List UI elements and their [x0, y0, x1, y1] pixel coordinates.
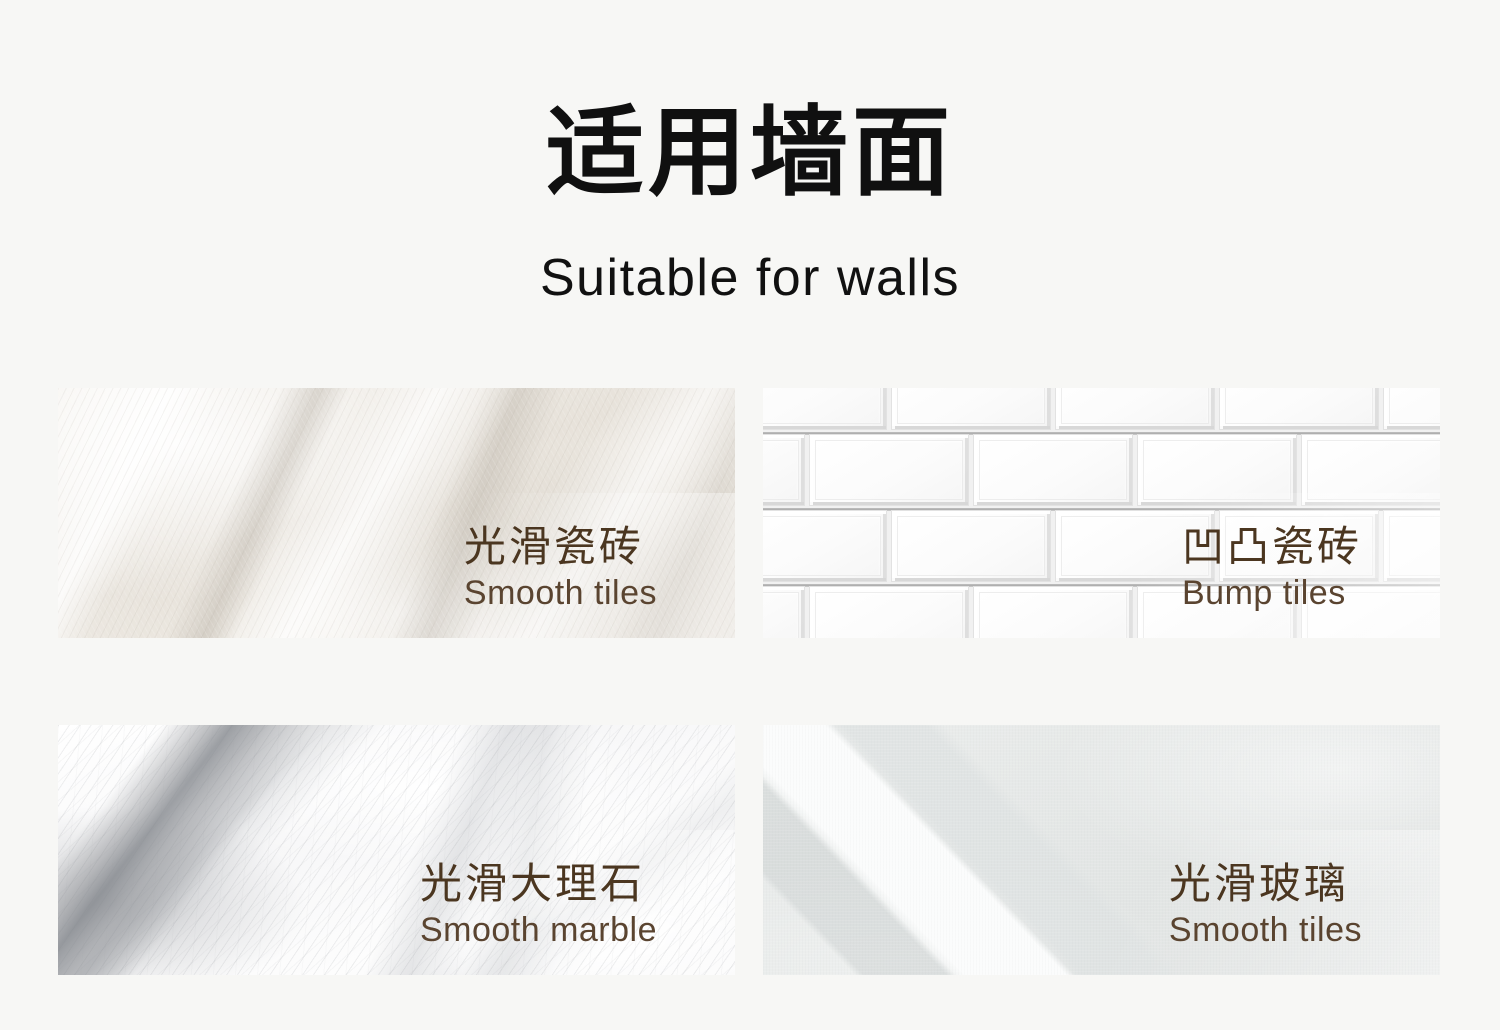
card-label-cn: 光滑玻璃 [1169, 860, 1362, 907]
page-title: 适用墙面 [0, 0, 1500, 202]
card-label-en: Smooth tiles [1169, 911, 1362, 949]
card-label-en: Bump tiles [1182, 574, 1362, 612]
page-header: 适用墙面 Suitable for walls [0, 0, 1500, 304]
surface-card-bump-tiles[interactable]: 凹凸瓷砖 Bump tiles [763, 388, 1440, 638]
card-label: 光滑大理石 Smooth marble [420, 860, 657, 949]
surface-card-smooth-glass[interactable]: 光滑玻璃 Smooth tiles [763, 725, 1440, 975]
card-label-en: Smooth tiles [464, 574, 657, 612]
page-subtitle: Suitable for walls [0, 202, 1500, 304]
surface-card-grid: 光滑瓷砖 Smooth tiles 凹凸瓷砖 Bump tiles [58, 388, 1440, 975]
card-label-cn: 光滑瓷砖 [464, 523, 657, 570]
card-label-cn: 凹凸瓷砖 [1182, 523, 1362, 570]
card-label-en: Smooth marble [420, 911, 657, 949]
card-label: 凹凸瓷砖 Bump tiles [1182, 523, 1362, 612]
card-label: 光滑瓷砖 Smooth tiles [464, 523, 657, 612]
card-label-cn: 光滑大理石 [420, 860, 657, 907]
surface-card-smooth-marble[interactable]: 光滑大理石 Smooth marble [58, 725, 735, 975]
card-label: 光滑玻璃 Smooth tiles [1169, 860, 1362, 949]
surface-card-smooth-tiles[interactable]: 光滑瓷砖 Smooth tiles [58, 388, 735, 638]
